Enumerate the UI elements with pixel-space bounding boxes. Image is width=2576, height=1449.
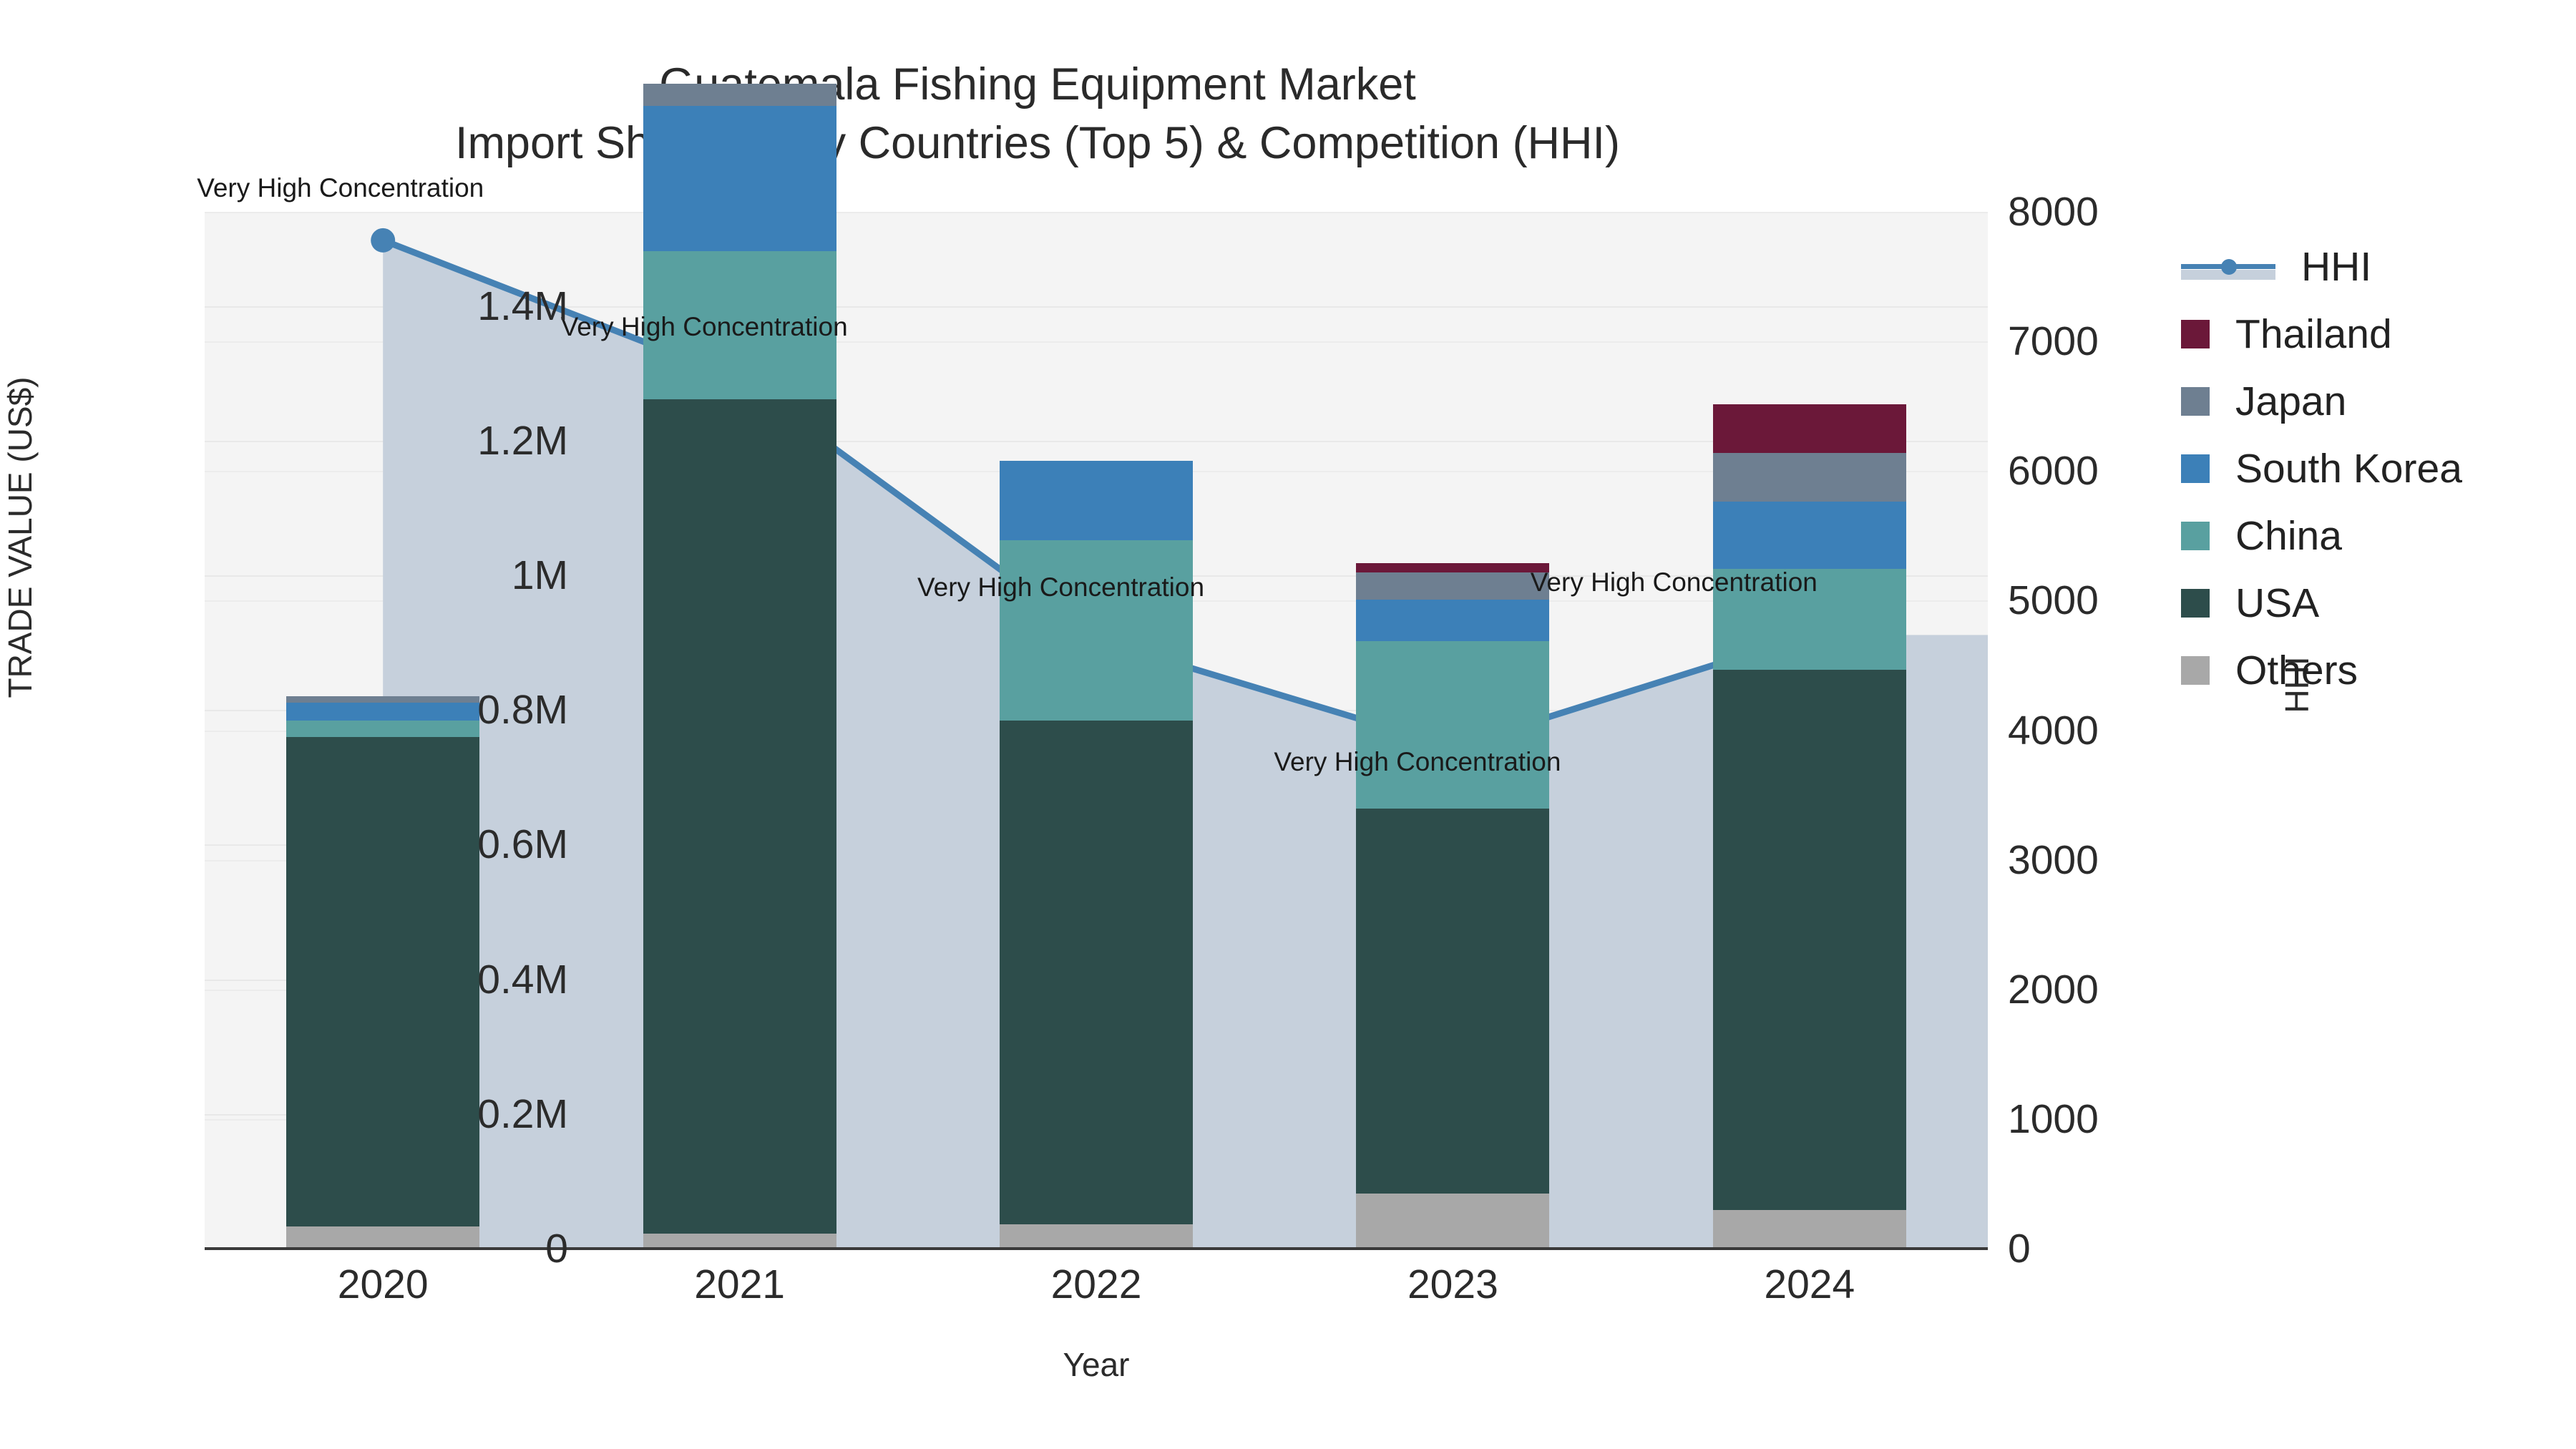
chart-title-line-1: Guatemala Fishing Equipment Market — [0, 56, 2075, 114]
bar-segment-others[interactable] — [286, 1226, 479, 1249]
bar-segment-usa[interactable] — [1713, 670, 1906, 1211]
x-axis-tick-label-2024: 2024 — [1764, 1261, 1855, 1308]
plot-area: Very High ConcentrationVery High Concent… — [205, 212, 1988, 1249]
bar-segment-others[interactable] — [1000, 1224, 1193, 1249]
y-axis-left-tick-label: 0.6M — [477, 821, 568, 868]
y-axis-left-tick-label: 1.4M — [477, 283, 568, 330]
legend-color-swatch — [2181, 522, 2210, 550]
legend-item-china[interactable]: China — [2181, 502, 2567, 570]
legend: HHIThailandJapanSouth KoreaChinaUSAOther… — [2181, 233, 2567, 704]
y-axis-left-tick-label: 0.8M — [477, 686, 568, 733]
bar-segment-japan[interactable] — [1713, 453, 1906, 502]
legend-item-usa[interactable]: USA — [2181, 570, 2567, 637]
bar-segment-japan[interactable] — [643, 84, 836, 106]
y-axis-left-title: TRADE VALUE (US$) — [1, 251, 39, 824]
legend-color-swatch — [2181, 454, 2210, 483]
y-axis-right-tick-label: 0 — [2008, 1225, 2031, 1272]
bar-segment-thailand[interactable] — [1356, 563, 1549, 572]
annotation-very-high-concentration: Very High Concentration — [561, 312, 848, 342]
x-axis-tick-label-2022: 2022 — [1051, 1261, 1142, 1308]
y-axis-right-tick-label: 5000 — [2008, 577, 2099, 624]
bar-group-2023[interactable] — [1356, 212, 1549, 1249]
bar-group-2020[interactable] — [286, 212, 479, 1249]
annotation-very-high-concentration: Very High Concentration — [1531, 567, 1818, 597]
legend-item-hhi[interactable]: HHI — [2181, 233, 2567, 301]
x-axis-tick-label-2021: 2021 — [694, 1261, 785, 1308]
bar-segment-china[interactable] — [1000, 540, 1193, 721]
legend-line-swatch — [2181, 253, 2275, 281]
bar-segment-japan[interactable] — [286, 696, 479, 702]
legend-item-label: USA — [2235, 580, 2319, 627]
y-axis-right-tick-label: 3000 — [2008, 836, 2099, 884]
chart-title-line-2: Import Shipment by Countries (Top 5) & C… — [0, 114, 2075, 173]
y-axis-right-tick-label: 2000 — [2008, 966, 2099, 1013]
bar-segment-china[interactable] — [1356, 641, 1549, 808]
x-axis-line — [205, 1247, 1988, 1250]
legend-color-swatch — [2181, 656, 2210, 685]
chart-title: Guatemala Fishing Equipment Market Impor… — [0, 56, 2075, 173]
annotation-very-high-concentration: Very High Concentration — [197, 173, 484, 203]
legend-color-swatch — [2181, 387, 2210, 416]
annotation-very-high-concentration: Very High Concentration — [917, 572, 1204, 602]
y-axis-left-tick-label: 0 — [545, 1225, 568, 1272]
y-axis-left-tick-label: 1.2M — [477, 417, 568, 464]
bar-group-2022[interactable] — [1000, 212, 1193, 1249]
y-axis-left-tick-label: 0.2M — [477, 1091, 568, 1138]
y-axis-right-tick-label: 1000 — [2008, 1096, 2099, 1143]
bar-segment-south-korea[interactable] — [1713, 502, 1906, 569]
x-axis-title: Year — [205, 1345, 1988, 1384]
legend-item-others[interactable]: Others — [2181, 637, 2567, 704]
bar-segment-usa[interactable] — [1000, 721, 1193, 1224]
legend-item-thailand[interactable]: Thailand — [2181, 301, 2567, 368]
x-axis-tick-label-2020: 2020 — [338, 1261, 429, 1308]
legend-item-label: HHI — [2301, 243, 2371, 291]
legend-item-japan[interactable]: Japan — [2181, 368, 2567, 435]
bar-segment-japan[interactable] — [1356, 572, 1549, 600]
legend-color-swatch — [2181, 320, 2210, 348]
legend-item-label: Thailand — [2235, 311, 2392, 358]
bar-segment-thailand[interactable] — [1713, 404, 1906, 453]
bar-segment-south-korea[interactable] — [1356, 600, 1549, 641]
y-axis-left-tick-label: 1M — [512, 552, 568, 599]
y-axis-right-tick-label: 4000 — [2008, 707, 2099, 754]
y-axis-left-tick-label: 0.4M — [477, 956, 568, 1003]
x-axis-tick-label-2023: 2023 — [1407, 1261, 1498, 1308]
bar-segment-usa[interactable] — [1356, 809, 1549, 1194]
y-axis-right-tick-label: 7000 — [2008, 318, 2099, 365]
legend-item-label: China — [2235, 512, 2342, 560]
bar-segment-south-korea[interactable] — [286, 703, 479, 721]
bar-segment-usa[interactable] — [643, 399, 836, 1234]
bar-segment-south-korea[interactable] — [1000, 461, 1193, 540]
bar-segment-others[interactable] — [1356, 1194, 1549, 1249]
bar-segment-south-korea[interactable] — [643, 106, 836, 250]
bar-segment-others[interactable] — [643, 1234, 836, 1249]
annotation-very-high-concentration: Very High Concentration — [1274, 747, 1561, 777]
y-axis-right-tick-label: 6000 — [2008, 447, 2099, 494]
legend-color-swatch — [2181, 589, 2210, 618]
y-axis-right-tick-label: 8000 — [2008, 188, 2099, 235]
bar-segment-usa[interactable] — [286, 737, 479, 1226]
legend-item-label: Japan — [2235, 378, 2346, 425]
bar-segment-others[interactable] — [1713, 1210, 1906, 1249]
bar-group-2024[interactable] — [1713, 212, 1906, 1249]
bar-group-2021[interactable] — [643, 212, 836, 1249]
bar-segment-china[interactable] — [286, 721, 479, 737]
legend-item-label: South Korea — [2235, 445, 2462, 492]
chart-canvas: Guatemala Fishing Equipment Market Impor… — [0, 0, 2576, 1449]
legend-item-south-korea[interactable]: South Korea — [2181, 435, 2567, 502]
legend-item-label: Others — [2235, 647, 2358, 694]
